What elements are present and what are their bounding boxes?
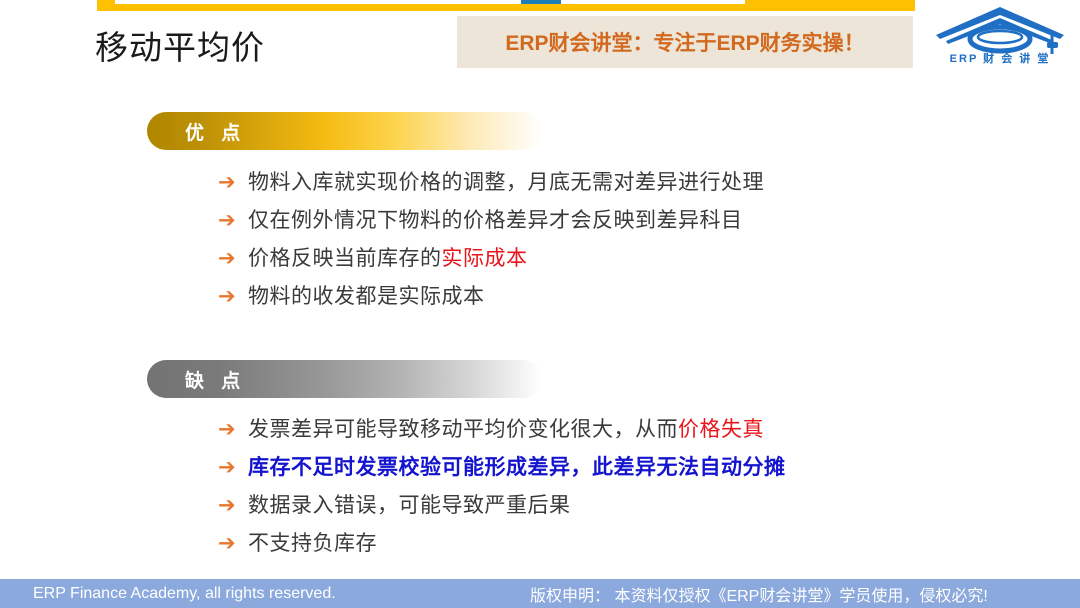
list-item-text: 不支持负库存 <box>248 529 377 559</box>
footer-copyright-en: ERP Finance Academy, all rights reserved… <box>33 585 336 603</box>
arrow-right-icon: ➔ <box>218 415 248 445</box>
header-promo-banner: ERP财会讲堂：专注于ERP财务实操！ <box>457 16 913 68</box>
list-item-text: 发票差异可能导致移动平均价变化很大，从而价格失真 <box>248 415 764 445</box>
erp-academy-logo: ERP 财 会 讲 堂 <box>930 2 1070 78</box>
section-header-pros: 优 点 <box>147 112 542 150</box>
arrow-right-icon: ➔ <box>218 491 248 521</box>
arrow-right-icon: ➔ <box>218 244 248 274</box>
list-item-text: 库存不足时发票校验可能形成差异，此差异无法自动分摊 <box>248 453 786 483</box>
list-item: ➔ 仅在例外情况下物料的价格差异才会反映到差异科目 <box>218 206 764 244</box>
top-accent-bar-inner-white <box>115 0 745 4</box>
header-promo-banner-text: ERP财会讲堂：专注于ERP财务实操！ <box>505 27 864 57</box>
footer-copyright-zh: 版权申明： 本资料仅授权《ERP财会讲堂》学员使用，侵权必究! <box>530 582 988 606</box>
top-accent-bar-blue-segment <box>521 0 561 4</box>
graduation-cap-icon <box>930 2 1070 78</box>
list-item: ➔ 不支持负库存 <box>218 529 786 567</box>
list-item-text: 数据录入错误，可能导致严重后果 <box>248 491 571 521</box>
list-item-text: 价格反映当前库存的实际成本 <box>248 244 528 274</box>
footer-bar: ERP Finance Academy, all rights reserved… <box>0 579 1080 608</box>
pros-bullet-list: ➔ 物料入库就实现价格的调整，月底无需对差异进行处理 ➔ 仅在例外情况下物料的价… <box>218 168 764 320</box>
arrow-right-icon: ➔ <box>218 453 248 483</box>
cons-bullet-list: ➔ 发票差异可能导致移动平均价变化很大，从而价格失真 ➔ 库存不足时发票校验可能… <box>218 415 786 567</box>
section-header-cons-label: 缺 点 <box>185 366 246 393</box>
arrow-right-icon: ➔ <box>218 282 248 312</box>
list-item: ➔ 数据录入错误，可能导致严重后果 <box>218 491 786 529</box>
list-item: ➔ 价格反映当前库存的实际成本 <box>218 244 764 282</box>
list-item: ➔ 库存不足时发票校验可能形成差异，此差异无法自动分摊 <box>218 453 786 491</box>
section-header-cons: 缺 点 <box>147 360 542 398</box>
page-title: 移动平均价 <box>95 21 265 69</box>
arrow-right-icon: ➔ <box>218 168 248 198</box>
logo-caption: ERP 财 会 讲 堂 <box>930 50 1070 66</box>
list-item: ➔ 物料入库就实现价格的调整，月底无需对差异进行处理 <box>218 168 764 206</box>
section-header-pros-label: 优 点 <box>185 118 246 145</box>
list-item-text: 物料的收发都是实际成本 <box>248 282 485 312</box>
arrow-right-icon: ➔ <box>218 529 248 559</box>
list-item: ➔ 发票差异可能导致移动平均价变化很大，从而价格失真 <box>218 415 786 453</box>
list-item-text: 仅在例外情况下物料的价格差异才会反映到差异科目 <box>248 206 743 236</box>
list-item-text: 物料入库就实现价格的调整，月底无需对差异进行处理 <box>248 168 764 198</box>
list-item: ➔ 物料的收发都是实际成本 <box>218 282 764 320</box>
arrow-right-icon: ➔ <box>218 206 248 236</box>
